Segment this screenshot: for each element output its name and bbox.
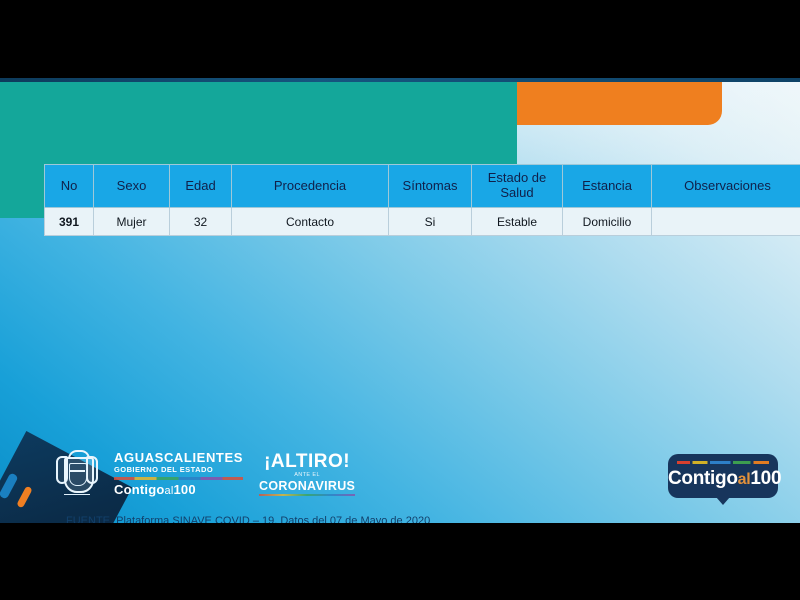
table-header-row: No Sexo Edad Procedencia Síntomas Estado… <box>45 165 800 208</box>
cell-sexo: Mujer <box>94 208 170 236</box>
crest-base-shape <box>64 494 90 498</box>
positive-cases-table: No Sexo Edad Procedencia Síntomas Estado… <box>44 164 800 236</box>
crest-band-shape <box>69 470 85 472</box>
altiro-subtitle: ANTE EL <box>259 473 355 479</box>
aguascalientes-wordmark: AGUASCALIENTES GOBIERNO DEL ESTADO Conti… <box>114 451 243 497</box>
cell-edad: 32 <box>170 208 232 236</box>
column-header-no: No <box>45 165 94 208</box>
footer-logo-group: AGUASCALIENTES GOBIERNO DEL ESTADO Conti… <box>56 450 355 498</box>
badge-label-al: al <box>738 471 751 488</box>
crest-inner-shape <box>69 463 87 486</box>
badge-label-contigo: Contigo <box>668 468 738 489</box>
altiro-coronavirus-label: CORONAVIRUS <box>259 480 355 493</box>
presentation-slide: CASOS POSITIVOS No Sexo Edad Procedencia… <box>0 78 800 525</box>
cell-observaciones <box>652 208 800 236</box>
contigo-al-100-badge: Contigoal100 <box>668 454 778 498</box>
ags-slogan-100: 100 <box>173 482 195 497</box>
aguascalientes-crest-icon <box>56 450 98 498</box>
ags-slogan-contigo: Contigo <box>114 482 165 497</box>
column-header-edad: Edad <box>170 165 232 208</box>
column-header-sintomas: Síntomas <box>389 165 472 208</box>
cell-procedencia: Contacto <box>232 208 389 236</box>
column-header-estado-salud: Estado de Salud <box>472 165 563 208</box>
cell-estancia: Domicilio <box>563 208 652 236</box>
altiro-color-rule <box>259 494 355 496</box>
table-row: 391 Mujer 32 Contacto Si Estable Domicil… <box>45 208 800 236</box>
letterbox-top-bar <box>0 0 800 78</box>
column-header-observaciones: Observaciones <box>652 165 800 208</box>
ags-color-rule <box>114 477 243 480</box>
altiro-title: ¡ALTIRO! <box>259 452 355 471</box>
ags-government-line: GOBIERNO DEL ESTADO <box>114 466 243 474</box>
ags-slogan: Contigoal100 <box>114 483 243 497</box>
badge-label: Contigoal100 <box>668 468 778 490</box>
altiro-logo: ¡ALTIRO! ANTE EL CORONAVIRUS <box>259 452 355 496</box>
cell-sintomas: Si <box>389 208 472 236</box>
column-header-estancia: Estancia <box>563 165 652 208</box>
badge-label-100: 100 <box>750 468 781 489</box>
ags-state-name: AGUASCALIENTES <box>114 451 243 464</box>
cell-estado-salud: Estable <box>472 208 563 236</box>
cell-no: 391 <box>45 208 94 236</box>
badge-color-dashes <box>677 461 769 464</box>
column-header-procedencia: Procedencia <box>232 165 389 208</box>
video-frame: CASOS POSITIVOS No Sexo Edad Procedencia… <box>0 0 800 600</box>
letterbox-bottom-bar <box>0 523 800 600</box>
column-header-sexo: Sexo <box>94 165 170 208</box>
